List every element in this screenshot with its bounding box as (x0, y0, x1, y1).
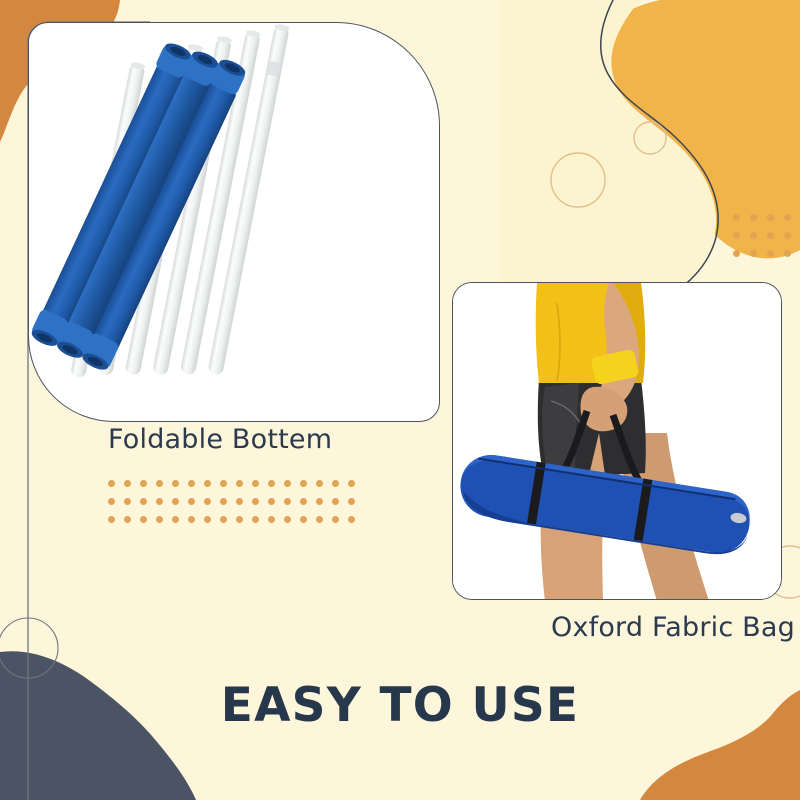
decorative-dot (124, 516, 131, 523)
decorative-dot (284, 480, 291, 487)
decorative-dot (204, 498, 211, 505)
decorative-dot (172, 480, 179, 487)
decorative-dot (316, 498, 323, 505)
decorative-dot (188, 480, 195, 487)
decorative-dot (124, 498, 131, 505)
decorative-dot (316, 516, 323, 523)
decorative-dot (172, 516, 179, 523)
decorative-dot (220, 480, 227, 487)
caption-oxford-bag: Oxford Fabric Bag (551, 612, 795, 643)
decorative-dot (784, 214, 791, 221)
decorative-dot (300, 516, 307, 523)
decorative-dot (750, 214, 757, 221)
decorative-dot (733, 250, 740, 257)
decorative-dot (204, 516, 211, 523)
decorative-dot (188, 498, 195, 505)
decorative-dot (733, 232, 740, 239)
decorative-dot (268, 480, 275, 487)
decorative-dot (108, 480, 115, 487)
decorative-dot (733, 214, 740, 221)
decorative-dot (236, 498, 243, 505)
decorative-dot (767, 214, 774, 221)
decorative-dot (784, 232, 791, 239)
decorative-dot (204, 480, 211, 487)
decorative-dot (767, 232, 774, 239)
bag-photo-illustration (453, 283, 782, 600)
poles-illustration (29, 23, 440, 422)
decorative-dot (284, 498, 291, 505)
decorative-dot (156, 498, 163, 505)
dot-grid-right (733, 214, 800, 268)
decorative-dot (284, 516, 291, 523)
decorative-dot (140, 516, 147, 523)
decorative-dot (108, 516, 115, 523)
decorative-dot (750, 250, 757, 257)
decorative-dot (188, 516, 195, 523)
decorative-dot (236, 516, 243, 523)
decorative-dot (252, 498, 259, 505)
decorative-dot (300, 498, 307, 505)
decorative-dot (236, 480, 243, 487)
panel-oxford-bag (452, 282, 782, 600)
decorative-dot (300, 480, 307, 487)
decorative-dot (140, 480, 147, 487)
panel-foldable-bottom (28, 22, 440, 422)
headline-easy-to-use: EASY TO USE (0, 678, 800, 733)
decorative-dot (220, 498, 227, 505)
dot-grid-left (108, 480, 364, 534)
decorative-dot (156, 516, 163, 523)
decorative-dot (316, 480, 323, 487)
decorative-dot (332, 480, 339, 487)
decorative-dot (252, 516, 259, 523)
decorative-dot (108, 498, 115, 505)
caption-foldable-bottom: Foldable Bottem (108, 424, 332, 455)
decorative-dot (252, 480, 259, 487)
decorative-dot (156, 480, 163, 487)
infographic-canvas: Foldable Bottem Oxford Fabric Bag EASY T… (0, 0, 800, 800)
decorative-dot (268, 516, 275, 523)
decorative-dot (172, 498, 179, 505)
decorative-dot (140, 498, 147, 505)
decorative-dot (348, 480, 355, 487)
decorative-dot (767, 250, 774, 257)
decorative-dot (268, 498, 275, 505)
decorative-dot (348, 516, 355, 523)
decorative-dot (784, 250, 791, 257)
decorative-dot (332, 516, 339, 523)
decorative-dot (348, 498, 355, 505)
decorative-dot (332, 498, 339, 505)
decorative-dot (750, 232, 757, 239)
decorative-dot (220, 516, 227, 523)
decorative-dot (124, 480, 131, 487)
